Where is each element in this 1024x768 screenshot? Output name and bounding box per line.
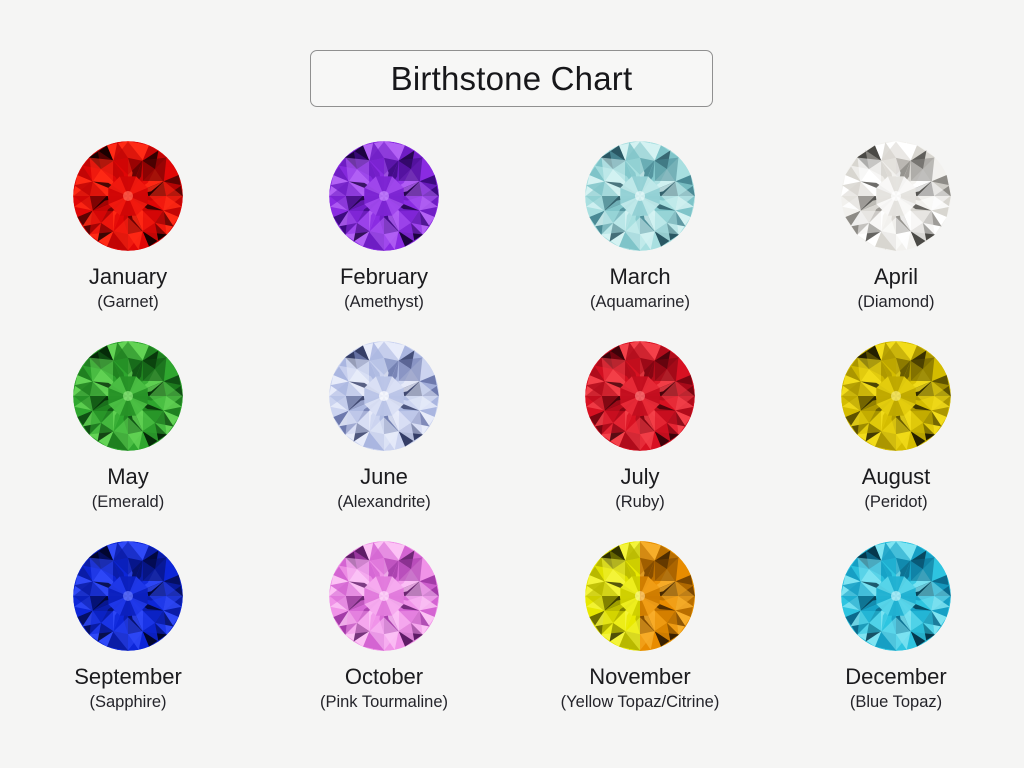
gem-image-may[interactable] xyxy=(72,340,184,452)
birthstone-cell[interactable]: May(Emerald) xyxy=(0,340,256,540)
birthstone-cell[interactable]: July(Ruby) xyxy=(512,340,768,540)
stone-label: (Pink Tourmaline) xyxy=(320,694,448,711)
stone-label: (Emerald) xyxy=(92,494,164,511)
month-label: May xyxy=(107,465,149,488)
round-brilliant-gem-icon xyxy=(584,340,696,452)
month-label: August xyxy=(862,465,931,488)
month-label: December xyxy=(845,665,946,688)
page-title: Birthstone Chart xyxy=(391,62,633,95)
gem-image-february[interactable] xyxy=(328,140,440,252)
gem-image-december[interactable] xyxy=(840,540,952,652)
gem-image-march[interactable] xyxy=(584,140,696,252)
gem-image-november[interactable] xyxy=(584,540,696,652)
round-brilliant-gem-icon xyxy=(328,140,440,252)
round-brilliant-gem-icon xyxy=(328,340,440,452)
gem-image-january[interactable] xyxy=(72,140,184,252)
month-label: July xyxy=(620,465,659,488)
birthstone-cell[interactable]: January(Garnet) xyxy=(0,140,256,340)
birthstone-grid: January(Garnet)February(Amethyst)March(A… xyxy=(0,140,1024,740)
birthstone-cell[interactable]: April(Diamond) xyxy=(768,140,1024,340)
birthstone-cell[interactable]: October(Pink Tourmaline) xyxy=(256,540,512,740)
birthstone-chart-page: Birthstone Chart January(Garnet)February… xyxy=(0,0,1024,768)
month-label: February xyxy=(340,265,428,288)
stone-label: (Diamond) xyxy=(857,294,934,311)
stone-label: (Yellow Topaz/Citrine) xyxy=(561,694,720,711)
stone-label: (Ruby) xyxy=(615,494,665,511)
stone-label: (Alexandrite) xyxy=(337,494,431,511)
gem-image-june[interactable] xyxy=(328,340,440,452)
stone-label: (Peridot) xyxy=(864,494,927,511)
chart-title-box: Birthstone Chart xyxy=(310,50,713,107)
round-brilliant-gem-icon xyxy=(840,540,952,652)
month-label: April xyxy=(874,265,918,288)
gem-image-april[interactable] xyxy=(840,140,952,252)
gem-image-october[interactable] xyxy=(328,540,440,652)
birthstone-cell[interactable]: February(Amethyst) xyxy=(256,140,512,340)
round-brilliant-gem-icon xyxy=(584,140,696,252)
gem-image-september[interactable] xyxy=(72,540,184,652)
round-brilliant-gem-icon xyxy=(328,540,440,652)
round-brilliant-gem-icon-split xyxy=(584,540,696,652)
birthstone-cell[interactable]: March(Aquamarine) xyxy=(512,140,768,340)
month-label: November xyxy=(589,665,690,688)
stone-label: (Blue Topaz) xyxy=(850,694,942,711)
month-label: June xyxy=(360,465,408,488)
round-brilliant-gem-icon xyxy=(840,140,952,252)
month-label: March xyxy=(609,265,670,288)
birthstone-cell[interactable]: August(Peridot) xyxy=(768,340,1024,540)
stone-label: (Aquamarine) xyxy=(590,294,690,311)
month-label: September xyxy=(74,665,182,688)
birthstone-cell[interactable]: September(Sapphire) xyxy=(0,540,256,740)
birthstone-cell[interactable]: November(Yellow Topaz/Citrine) xyxy=(512,540,768,740)
birthstone-cell[interactable]: June(Alexandrite) xyxy=(256,340,512,540)
stone-label: (Sapphire) xyxy=(89,694,166,711)
stone-label: (Garnet) xyxy=(97,294,158,311)
month-label: January xyxy=(89,265,167,288)
round-brilliant-gem-icon xyxy=(72,540,184,652)
round-brilliant-gem-icon xyxy=(72,340,184,452)
gem-image-july[interactable] xyxy=(584,340,696,452)
birthstone-cell[interactable]: December(Blue Topaz) xyxy=(768,540,1024,740)
month-label: October xyxy=(345,665,423,688)
round-brilliant-gem-icon xyxy=(72,140,184,252)
stone-label: (Amethyst) xyxy=(344,294,424,311)
gem-image-august[interactable] xyxy=(840,340,952,452)
round-brilliant-gem-icon xyxy=(840,340,952,452)
